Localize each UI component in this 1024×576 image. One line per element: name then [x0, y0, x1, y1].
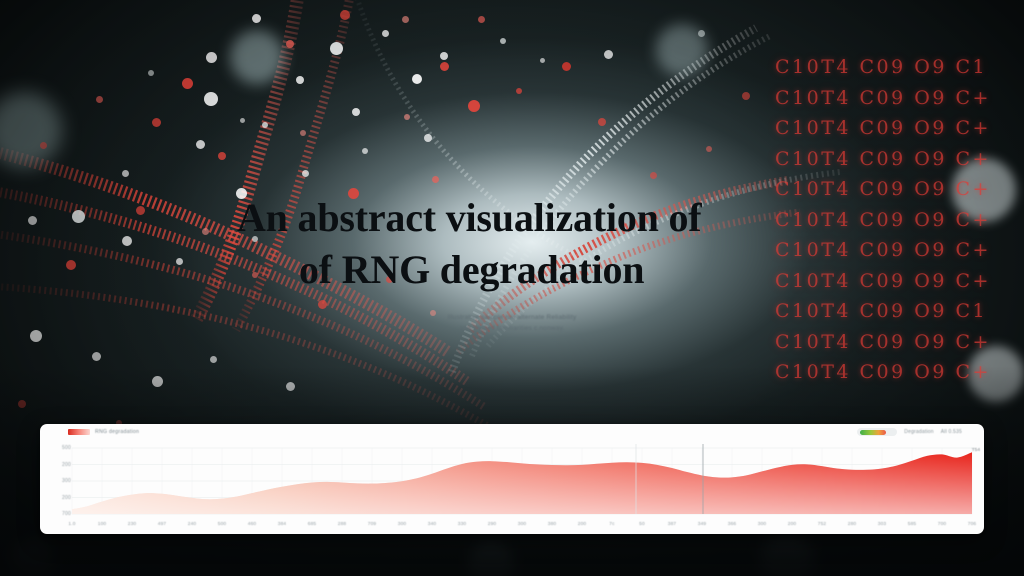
- y-tick-label: 500: [62, 445, 71, 451]
- x-tick-label: 1.0: [68, 522, 75, 527]
- x-tick-label: 290: [488, 522, 497, 527]
- x-tick-label: 200: [788, 522, 797, 527]
- x-tick-label: 384: [278, 522, 287, 527]
- x-tick-label: 752: [818, 522, 827, 527]
- y-tick-label: 300: [62, 478, 71, 484]
- x-tick-label: 380: [548, 522, 557, 527]
- severity-gauge-fill: [860, 430, 886, 435]
- x-tick-label: 300: [518, 522, 527, 527]
- x-tick-label: 700: [938, 522, 947, 527]
- x-tick-label: 460: [248, 522, 257, 527]
- chart-x-axis: 1.01002304972405004603846852887093003403…: [40, 522, 984, 532]
- x-tick-label: 387: [668, 522, 677, 527]
- chart-plot-area[interactable]: [40, 444, 984, 534]
- y-tick-label: 200: [62, 462, 71, 468]
- x-tick-label: 100: [98, 522, 107, 527]
- legend-label: RNG degradation: [95, 429, 139, 435]
- end-value-label: T54: [972, 448, 980, 453]
- severity-gauge-icon: [857, 428, 897, 436]
- x-tick-label: 330: [458, 522, 467, 527]
- x-tick-label: 50: [639, 522, 645, 527]
- chart-y-axis: 500200300200700: [49, 446, 71, 512]
- x-tick-label: 300: [758, 522, 767, 527]
- x-tick-label: 585: [908, 522, 917, 527]
- x-tick-label: 340: [428, 522, 437, 527]
- x-tick-label: 7c: [609, 522, 614, 527]
- x-tick-label: 500: [218, 522, 227, 527]
- x-tick-label: 497: [158, 522, 167, 527]
- y-tick-label: 700: [62, 511, 71, 517]
- badge-label: Degradation: [904, 429, 933, 435]
- x-tick-label: 709: [368, 522, 377, 527]
- x-tick-label: 200: [578, 522, 587, 527]
- x-tick-label: 288: [338, 522, 347, 527]
- legend-swatch-icon: [68, 429, 90, 435]
- x-tick-label: 280: [848, 522, 857, 527]
- x-tick-label: 366: [728, 522, 737, 527]
- x-tick-label: 685: [308, 522, 317, 527]
- x-tick-label: 303: [878, 522, 887, 527]
- chart-legend[interactable]: RNG degradation: [68, 429, 139, 435]
- x-tick-label: 349: [698, 522, 707, 527]
- x-tick-label: 230: [128, 522, 137, 527]
- slide-canvas: C10T4 C09 O9 C1 C10T4 C09 O9 C+ C10T4 C0…: [0, 0, 1024, 576]
- status-badge[interactable]: Degradation All 0.535: [857, 428, 962, 436]
- y-tick-label: 200: [62, 495, 71, 501]
- x-tick-label: 300: [398, 522, 407, 527]
- chart-panel[interactable]: RNG degradation Degradation All 0.535: [40, 424, 984, 534]
- badge-meta: All 0.535: [941, 429, 962, 435]
- x-tick-label: 706: [968, 522, 977, 527]
- x-tick-label: 240: [188, 522, 197, 527]
- chart-header: RNG degradation Degradation All 0.535: [40, 424, 984, 444]
